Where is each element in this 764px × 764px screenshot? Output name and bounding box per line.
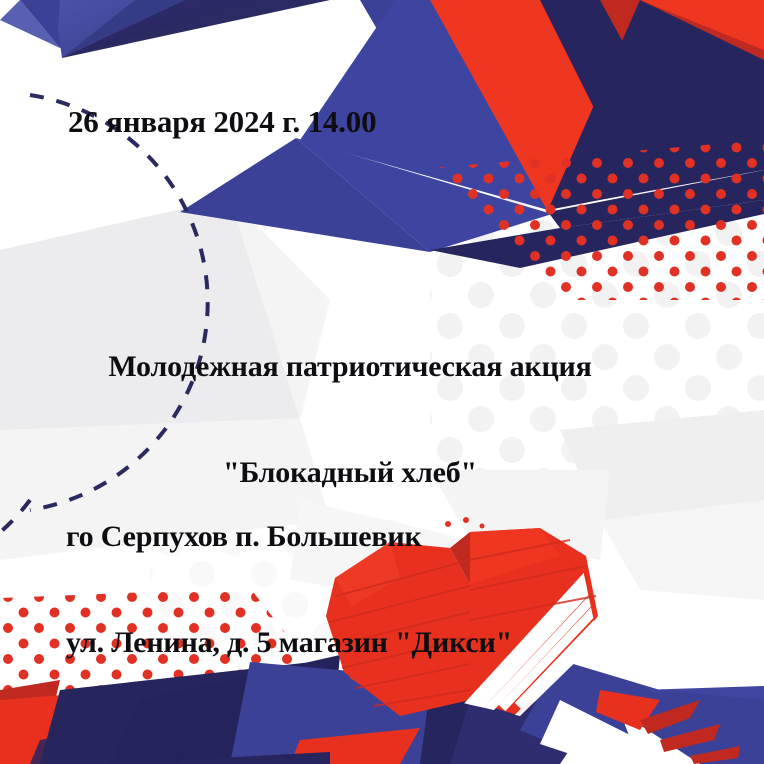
event-address: го Серпухов п. Большевик ул. Ленина, д. … [66, 448, 512, 731]
event-address-line-2: ул. Ленина, д. 5 магазин "Дикси" [66, 625, 512, 660]
poster-text-layer: 26 января 2024 г. 14.00 Молодежная патри… [0, 0, 764, 764]
event-title-line-1: Молодежная патриотическая акция [0, 349, 700, 384]
event-address-line-1: го Серпухов п. Большевик [66, 519, 512, 554]
event-date-time: 26 января 2024 г. 14.00 [68, 104, 376, 141]
poster-canvas: 26 января 2024 г. 14.00 Молодежная патри… [0, 0, 764, 764]
